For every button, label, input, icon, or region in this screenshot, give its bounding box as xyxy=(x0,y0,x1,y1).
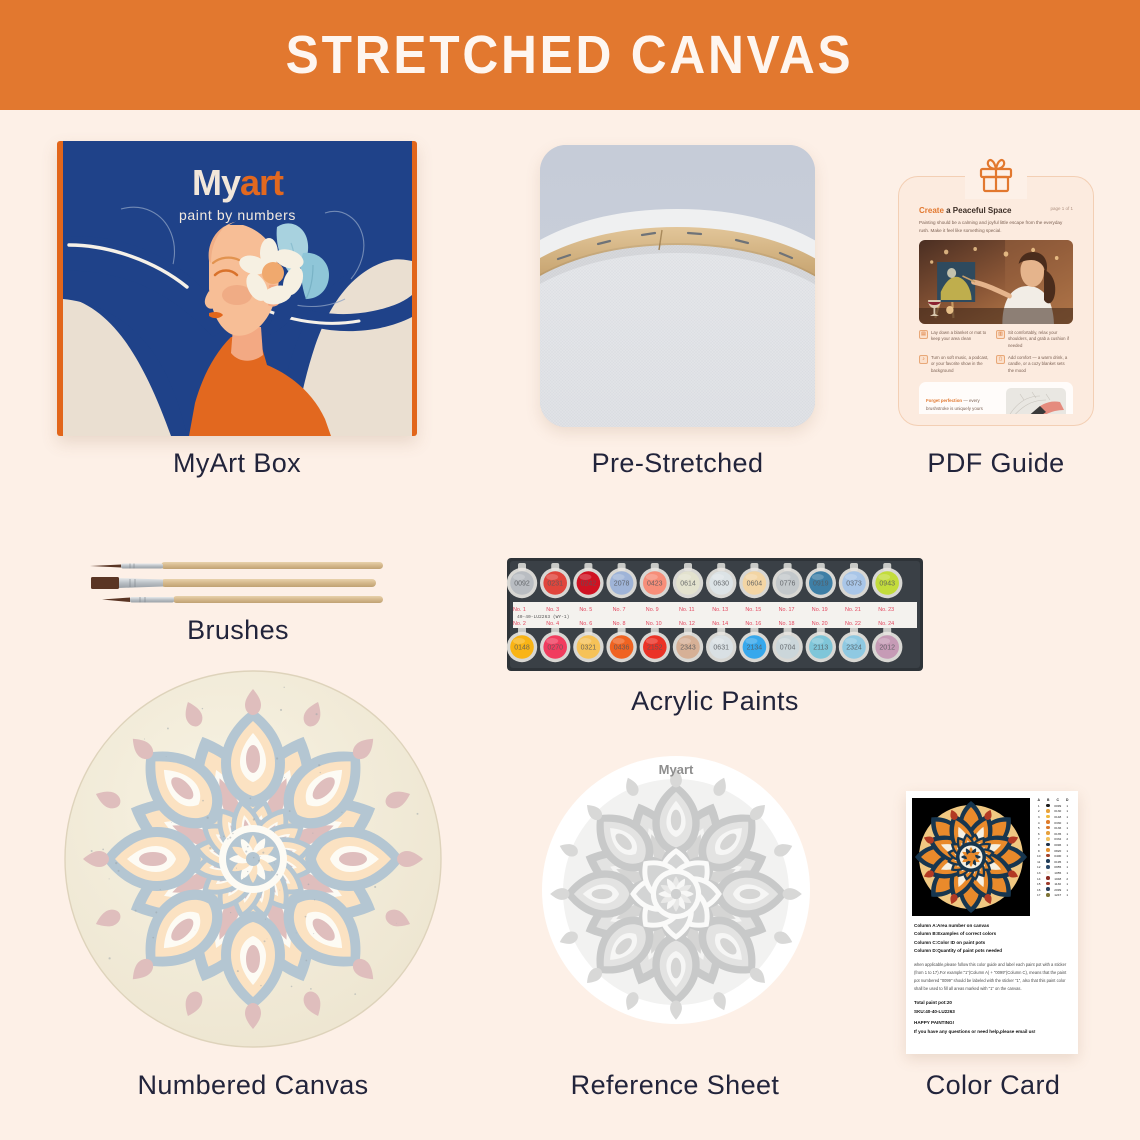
cell-qty: 2 xyxy=(1063,877,1073,881)
caption-brushes: Brushes xyxy=(68,615,408,646)
cell-swatch xyxy=(1044,809,1054,814)
logo-art-text: art xyxy=(240,162,283,203)
color-card-image: A B C D 10099120130130148140330150136160… xyxy=(906,791,1078,1054)
table-row: 601351 xyxy=(1034,831,1072,837)
color-card-mandala xyxy=(912,798,1030,916)
svg-text:No. 19: No. 19 xyxy=(812,607,828,613)
svg-text:40-40-LU2263 (WY-1): 40-40-LU2263 (WY-1) xyxy=(517,614,569,620)
svg-text:No. 12: No. 12 xyxy=(679,621,695,627)
table-row: 1101951 xyxy=(1034,859,1072,865)
legend-line: Column A:Area number on canvas xyxy=(914,922,1070,930)
table-row: 403301 xyxy=(1034,820,1072,826)
svg-text:2012: 2012 xyxy=(879,645,895,652)
cell-area: 14 xyxy=(1034,877,1044,881)
col-a: A xyxy=(1034,798,1044,802)
cell-color-id: 0148 xyxy=(1053,815,1063,819)
svg-text:No. 22: No. 22 xyxy=(845,621,861,627)
svg-text:2134: 2134 xyxy=(747,645,763,652)
svg-text:No. 18: No. 18 xyxy=(779,621,795,627)
svg-text:2078: 2078 xyxy=(614,581,630,588)
cell-area: 12 xyxy=(1034,865,1044,869)
caption-myart-box: MyArt Box xyxy=(57,448,417,479)
legend-line: Column C:Color ID on paint pots xyxy=(914,939,1070,947)
svg-text:0614: 0614 xyxy=(680,581,696,588)
table-row: 1004001 xyxy=(1034,853,1072,859)
pdf-heading-rest: a Peaceful Space xyxy=(944,206,1012,215)
acrylic-paints-image: 0092023102422078042306140630060407760919… xyxy=(505,556,925,673)
svg-text:0321: 0321 xyxy=(581,645,597,652)
cell-qty: 1 xyxy=(1063,865,1073,869)
svg-text:0436: 0436 xyxy=(614,645,630,652)
svg-text:2343: 2343 xyxy=(680,645,696,652)
cell-area: 15 xyxy=(1034,882,1044,886)
svg-text:0604: 0604 xyxy=(747,581,763,588)
cell-qty: 1 xyxy=(1063,849,1073,853)
chair-icon: ▥ xyxy=(996,330,1005,339)
stretched-canvas-photo xyxy=(540,145,815,427)
pdf-tip-item: ▯ Add comfort — a warm drink, a candle, … xyxy=(996,355,1073,375)
cell-area: 2 xyxy=(1034,809,1044,813)
cell-color-id: 0332 xyxy=(1053,837,1063,841)
cell-area: 11 xyxy=(1034,860,1044,864)
pdf-tip-item: ♪ Turn on soft music, a podcast, or your… xyxy=(919,355,996,375)
cell-qty: 1 xyxy=(1063,854,1073,858)
cell-swatch xyxy=(1044,815,1054,820)
table-row: 1620991 xyxy=(1034,887,1072,893)
svg-text:No. 8: No. 8 xyxy=(613,621,626,627)
cell-swatch xyxy=(1044,820,1054,825)
table-header: A B C D xyxy=(1034,798,1072,802)
color-card-note: when applicable,please follow this color… xyxy=(914,961,1070,993)
svg-text:No. 15: No. 15 xyxy=(745,607,761,613)
svg-text:No. 20: No. 20 xyxy=(812,621,828,627)
pdf-tip-item: ▥ Sit comfortably, relax your shoulders,… xyxy=(996,330,1073,350)
svg-text:0242: 0242 xyxy=(581,581,597,588)
cell-area: 3 xyxy=(1034,815,1044,819)
svg-text:2152: 2152 xyxy=(647,645,663,652)
svg-text:2324: 2324 xyxy=(846,645,862,652)
infographic-page: STRETCHED CANVAS xyxy=(0,0,1140,1140)
svg-text:No. 7: No. 7 xyxy=(613,607,626,613)
paint-tray: 0092023102422078042306140630060407760919… xyxy=(505,556,925,673)
cell-color-id: 0330 xyxy=(1053,821,1063,825)
cell-qty: 1 xyxy=(1063,871,1073,875)
table-row: 800961 xyxy=(1034,842,1072,848)
caption-color-card: Color Card xyxy=(878,1070,1108,1101)
cell-swatch xyxy=(1044,848,1054,853)
cell-qty: 1 xyxy=(1063,893,1073,897)
cell-qty: 1 xyxy=(1063,882,1073,886)
cell-color-id: 1048 xyxy=(1053,877,1063,881)
cell-swatch xyxy=(1044,876,1054,881)
pdf-photo xyxy=(919,240,1073,324)
svg-text:0270: 0270 xyxy=(547,645,563,652)
table-row: 908201 xyxy=(1034,848,1072,854)
table-row: 703322 xyxy=(1034,837,1072,843)
cell-color-id: 0136 xyxy=(1053,826,1063,830)
cell-qty: 1 xyxy=(1063,809,1073,813)
pdf-tip-item: ▤ Lay down a blanket or mat to keep your… xyxy=(919,330,996,350)
cell-swatch xyxy=(1044,871,1054,876)
myart-logo: Myart paint by numbers xyxy=(63,162,412,223)
svg-text:No. 24: No. 24 xyxy=(878,621,894,627)
cell-swatch xyxy=(1044,826,1054,831)
cell-area: 17 xyxy=(1034,893,1044,897)
music-icon: ♪ xyxy=(919,355,928,364)
table-row: 1511301 xyxy=(1034,881,1072,887)
caption-pdf-guide: PDF Guide xyxy=(878,448,1114,479)
logo-tagline: paint by numbers xyxy=(63,207,412,223)
color-card-legend: Column A:Area number on canvas Column B:… xyxy=(914,922,1070,956)
contact-text: If you have any questions or need help,p… xyxy=(914,1028,1070,1037)
color-card-footer: Total paint pot:20 SKU:40-40-LU2263 HAPP… xyxy=(914,999,1070,1037)
caption-pre-stretched: Pre-Stretched xyxy=(525,448,830,479)
table-row: 301481 xyxy=(1034,814,1072,820)
cell-qty: 1 xyxy=(1063,804,1073,808)
reference-sheet-image: Myart xyxy=(541,742,811,1037)
cell-color-id: 1130 xyxy=(1053,882,1063,886)
cell-color-id: 0099 xyxy=(1053,804,1063,808)
svg-text:0919: 0919 xyxy=(813,581,829,588)
svg-text:0630: 0630 xyxy=(713,581,729,588)
cell-swatch xyxy=(1044,859,1054,864)
cell-swatch xyxy=(1044,854,1054,859)
reference-sheet-logo: Myart xyxy=(659,762,694,777)
svg-text:0373: 0373 xyxy=(846,581,862,588)
legend-line: Column B:Examples of correct colors xyxy=(914,930,1070,938)
numbered-canvas-image xyxy=(62,668,444,1050)
header-banner: STRETCHED CANVAS xyxy=(0,0,1140,110)
pdf-footer-note: Forget perfection — every brushstroke is… xyxy=(919,382,1073,414)
svg-text:No. 13: No. 13 xyxy=(712,607,728,613)
cell-area: 16 xyxy=(1034,888,1044,892)
svg-text:0776: 0776 xyxy=(780,581,796,588)
svg-text:No. 17: No. 17 xyxy=(779,607,795,613)
svg-text:No. 5: No. 5 xyxy=(579,607,592,613)
box-right-edge xyxy=(412,141,417,436)
cell-color-id: 0135 xyxy=(1053,832,1063,836)
happy-painting-text: HAPPY PAINTING! xyxy=(914,1019,1070,1028)
cell-swatch xyxy=(1044,893,1054,898)
cell-area: 9 xyxy=(1034,849,1044,853)
pre-stretched-image xyxy=(540,145,815,427)
legend-line: Column D:Quantity of paint pots needed xyxy=(914,947,1070,955)
gift-icon xyxy=(965,154,1027,199)
svg-text:0231: 0231 xyxy=(547,581,563,588)
svg-text:No. 2: No. 2 xyxy=(513,621,526,627)
cell-swatch xyxy=(1044,804,1054,809)
cloth-icon: ▤ xyxy=(919,330,928,339)
cell-color-id: 0400 xyxy=(1053,854,1063,858)
cell-qty: 1 xyxy=(1063,821,1073,825)
cell-area: 8 xyxy=(1034,843,1044,847)
mandala-canvas xyxy=(62,668,444,1050)
svg-text:No. 10: No. 10 xyxy=(646,621,662,627)
cell-swatch xyxy=(1044,882,1054,887)
cell-swatch xyxy=(1044,865,1054,870)
cell-qty: 1 xyxy=(1063,888,1073,892)
cell-swatch xyxy=(1044,843,1054,848)
pdf-footer-accent: Forget perfection xyxy=(926,398,962,403)
cell-color-id: 1247 xyxy=(1053,893,1063,897)
myart-box-image: Myart paint by numbers xyxy=(57,141,417,436)
cell-area: 5 xyxy=(1034,826,1044,830)
caption-acrylic-paints: Acrylic Paints xyxy=(505,686,925,717)
reference-sheet-photo: Myart xyxy=(541,742,811,1037)
svg-text:0943: 0943 xyxy=(879,581,895,588)
svg-text:No. 9: No. 9 xyxy=(646,607,659,613)
cell-area: 1 xyxy=(1034,804,1044,808)
svg-text:No. 4: No. 4 xyxy=(546,621,559,627)
cell-color-id: 0096 xyxy=(1053,843,1063,847)
svg-text:No. 1: No. 1 xyxy=(513,607,526,613)
svg-text:No. 6: No. 6 xyxy=(579,621,592,627)
svg-text:No. 14: No. 14 xyxy=(712,621,728,627)
cell-area: 13 xyxy=(1034,871,1044,875)
pdf-body-text: Painting should be a calming and joyful … xyxy=(919,219,1073,235)
cell-swatch xyxy=(1044,887,1054,892)
cell-color-id: 0130 xyxy=(1053,809,1063,813)
cell-color-id: 0195 xyxy=(1053,860,1063,864)
svg-text:0092: 0092 xyxy=(514,581,530,588)
svg-text:0148: 0148 xyxy=(514,645,530,652)
pdf-guide-image: page 1 of 1 Create a Peaceful Space Pain… xyxy=(898,176,1094,426)
drink-icon: ▯ xyxy=(996,355,1005,364)
cell-qty: 1 xyxy=(1063,843,1073,847)
table-row: 1310551 xyxy=(1034,870,1072,876)
svg-text:No. 3: No. 3 xyxy=(546,607,559,613)
total-paint-pots: Total paint pot:20 xyxy=(914,999,1070,1008)
table-row: 1209551 xyxy=(1034,865,1072,871)
svg-text:2113: 2113 xyxy=(813,645,828,652)
col-d: D xyxy=(1063,798,1073,802)
cell-swatch xyxy=(1044,831,1054,836)
logo-my-text: My xyxy=(192,162,240,203)
cell-qty: 2 xyxy=(1063,837,1073,841)
cell-color-id: 1055 xyxy=(1053,871,1063,875)
svg-text:0704: 0704 xyxy=(780,645,796,652)
cell-color-id: 0955 xyxy=(1053,865,1063,869)
caption-reference-sheet: Reference Sheet xyxy=(525,1070,825,1101)
cell-qty: 1 xyxy=(1063,832,1073,836)
pdf-heading-accent: Create xyxy=(919,206,944,215)
table-row: 501361 xyxy=(1034,825,1072,831)
cell-qty: 1 xyxy=(1063,826,1073,830)
cell-area: 7 xyxy=(1034,837,1044,841)
pdf-tips-list: ▤ Lay down a blanket or mat to keep your… xyxy=(919,330,1073,380)
page-title: STRETCHED CANVAS xyxy=(286,24,854,86)
col-c: C xyxy=(1053,798,1063,802)
table-row: 100991 xyxy=(1034,803,1072,809)
cell-area: 4 xyxy=(1034,821,1044,825)
svg-text:No. 11: No. 11 xyxy=(679,607,694,613)
cell-qty: 1 xyxy=(1063,815,1073,819)
svg-text:No. 23: No. 23 xyxy=(878,607,894,613)
cell-color-id: 0820 xyxy=(1053,849,1063,853)
svg-text:0631: 0631 xyxy=(713,645,729,652)
sku-text: SKU:40-40-LU2263 xyxy=(914,1008,1070,1017)
svg-text:0423: 0423 xyxy=(647,581,663,588)
cell-area: 10 xyxy=(1034,854,1044,858)
cell-area: 6 xyxy=(1034,832,1044,836)
pdf-page-marker: page 1 of 1 xyxy=(1050,206,1073,211)
pdf-heading: Create a Peaceful Space xyxy=(919,206,1012,215)
col-b: B xyxy=(1044,798,1054,802)
table-row: 1712471 xyxy=(1034,893,1072,899)
table-row: 201301 xyxy=(1034,809,1072,815)
cell-swatch xyxy=(1044,837,1054,842)
table-row: 1410482 xyxy=(1034,876,1072,882)
caption-numbered-canvas: Numbered Canvas xyxy=(62,1070,444,1101)
cell-qty: 1 xyxy=(1063,860,1073,864)
pdf-footer-photo xyxy=(1006,388,1066,414)
cell-color-id: 2099 xyxy=(1053,888,1063,892)
color-card-table: A B C D 10099120130130148140330150136160… xyxy=(1030,798,1072,916)
svg-text:No. 16: No. 16 xyxy=(745,621,761,627)
svg-text:No. 21: No. 21 xyxy=(845,607,861,613)
